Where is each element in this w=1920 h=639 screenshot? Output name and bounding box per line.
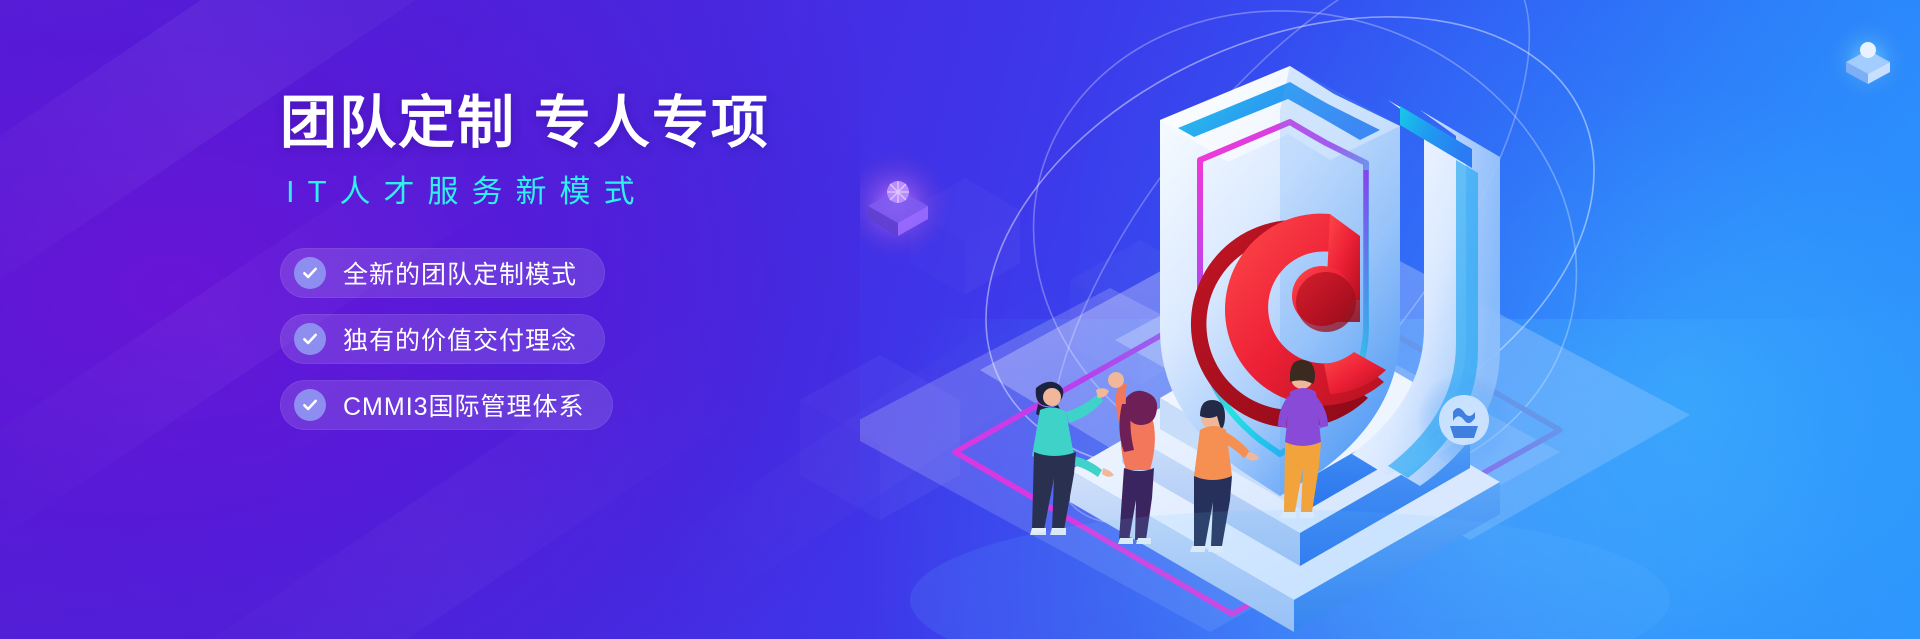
feature-pill[interactable]: 独有的价值交付理念 bbox=[280, 314, 605, 364]
security-shield-illustration bbox=[860, 0, 1920, 639]
floating-node-right bbox=[1828, 20, 1908, 100]
check-icon bbox=[294, 257, 326, 289]
check-icon bbox=[294, 323, 326, 355]
feature-pill[interactable]: CMMI3国际管理体系 bbox=[280, 380, 613, 430]
feature-pill-label: 独有的价值交付理念 bbox=[343, 321, 577, 357]
floating-node-left bbox=[860, 151, 950, 259]
feature-pill-label: 全新的团队定制模式 bbox=[343, 255, 577, 291]
feature-pill-label: CMMI3国际管理体系 bbox=[343, 387, 585, 423]
check-icon bbox=[294, 389, 326, 421]
hero-banner: 团队定制 专人专项 IT人才服务新模式 全新的团队定制模式 独有的价值交付理念 bbox=[0, 0, 1920, 639]
feature-pill[interactable]: 全新的团队定制模式 bbox=[280, 248, 605, 298]
floating-node-coffee bbox=[1416, 372, 1512, 468]
